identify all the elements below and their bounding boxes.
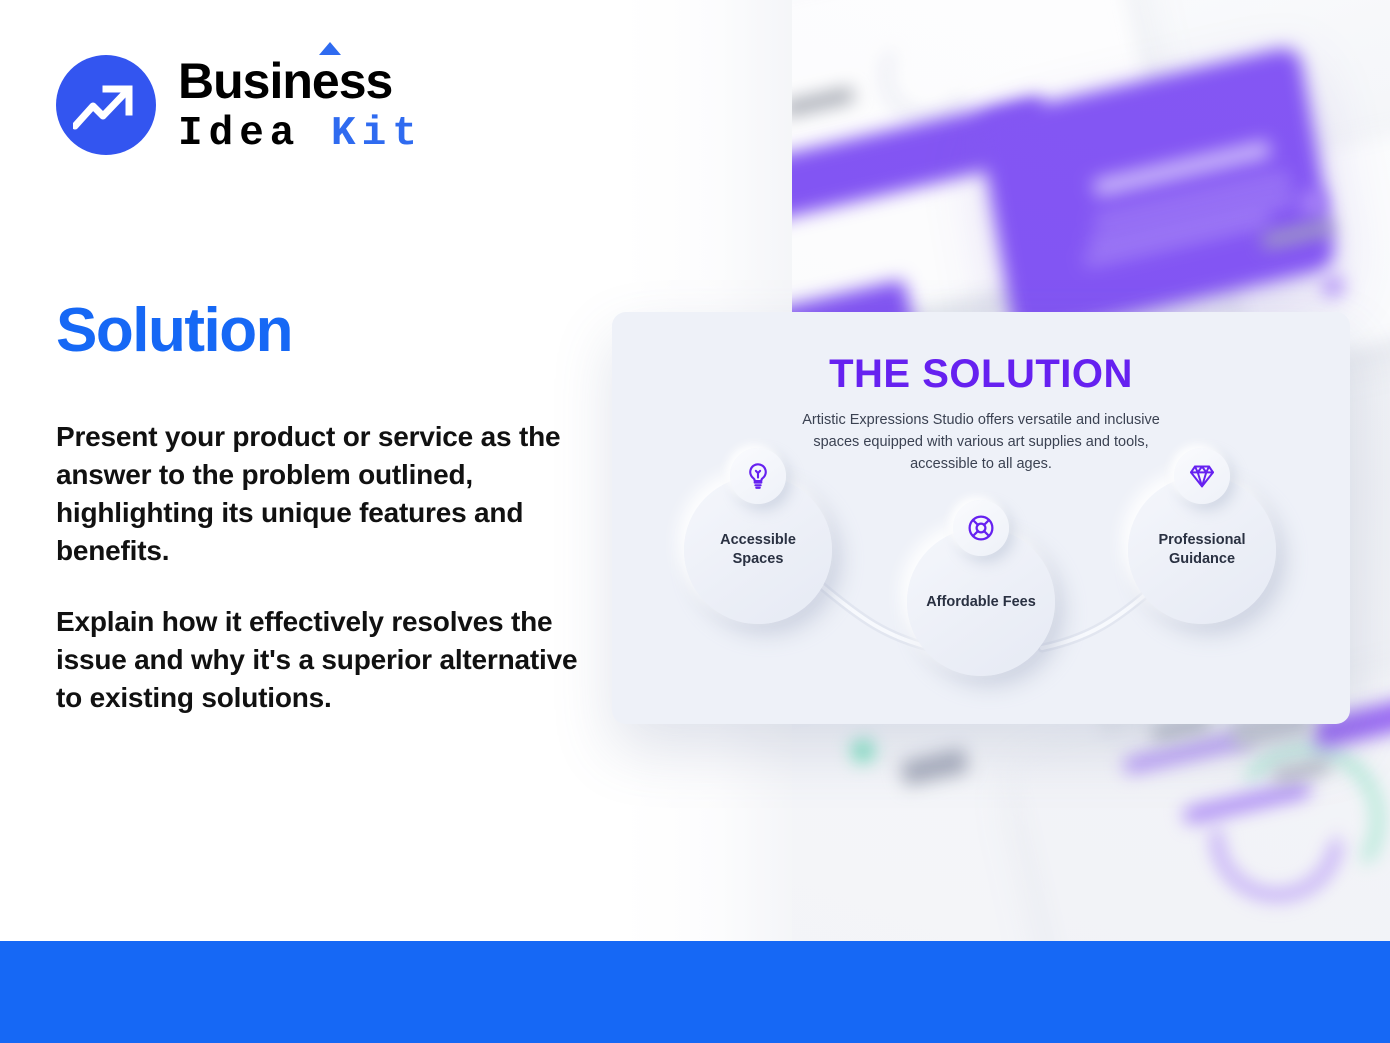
bg-mock-donut-purple [1185,743,1368,926]
bg-mock-text-bottom [900,748,969,786]
solution-node-label: Professional Guidance [1143,531,1261,569]
brand-name-line2: Idea Kit [178,114,423,155]
brand-name-line1: Business [178,56,423,106]
brand-logo: Business Idea Kit [56,55,423,155]
bg-mock-purple-line-3 [1083,214,1270,266]
brand-name-line1-text: Business [178,53,392,109]
bg-mock-donut-green [1220,733,1390,907]
brand-name-kit: Kit [331,111,423,157]
bg-mock-dot-right-2 [1320,273,1346,299]
page-title: Solution [56,295,292,366]
body-paragraph-2: Explain how it effectively resolves the … [56,603,596,717]
solution-node-label: Accessible Spaces [699,531,817,569]
bg-mock-dot-right-1 [1297,187,1328,218]
solution-node-group: Accessible Spaces A [612,462,1350,724]
solution-node-label: Affordable Fees [922,593,1040,612]
bg-mock-text-c2 [1271,759,1330,784]
solution-node-accessible-spaces[interactable]: Accessible Spaces [684,476,832,624]
diamond-icon [1174,448,1230,504]
bg-mock-text-right [1262,220,1335,248]
body-copy: Present your product or service as the a… [56,418,596,718]
bg-mock-purple-bar-a [792,95,1055,223]
bg-mock-purple-line-1 [1093,173,1290,228]
bg-mock-green-dot [850,738,876,764]
solution-card-title: THE SOLUTION [612,352,1350,397]
growth-arrow-icon [56,55,156,155]
circumflex-accent-icon [319,42,341,55]
bg-mock-purple-line-2 [1089,192,1296,249]
footer-bar [0,941,1390,1043]
solution-node-affordable-fees[interactable]: Affordable Fees [907,528,1055,676]
brand-name-idea: Idea [178,111,300,157]
bg-mock-purple-title [1092,140,1271,197]
bg-mock-pill-2 [1182,781,1312,825]
bg-mock-text-a [792,88,854,116]
bg-mock-ring [873,21,981,129]
bg-mock-purple-panel [977,44,1338,340]
bg-mock-pill-1 [1122,731,1252,775]
lifebuoy-icon [953,500,1009,556]
solution-card: THE SOLUTION Artistic Expressions Studio… [612,312,1350,724]
slide-root: Business Idea Kit Solution Present your … [0,0,1390,1043]
body-paragraph-1: Present your product or service as the a… [56,418,596,570]
bg-mock-card-top-left [792,0,1184,344]
solution-node-professional-guidance[interactable]: Professional Guidance [1128,476,1276,624]
brand-wordmark: Business Idea Kit [178,56,423,155]
lightbulb-icon [730,448,786,504]
